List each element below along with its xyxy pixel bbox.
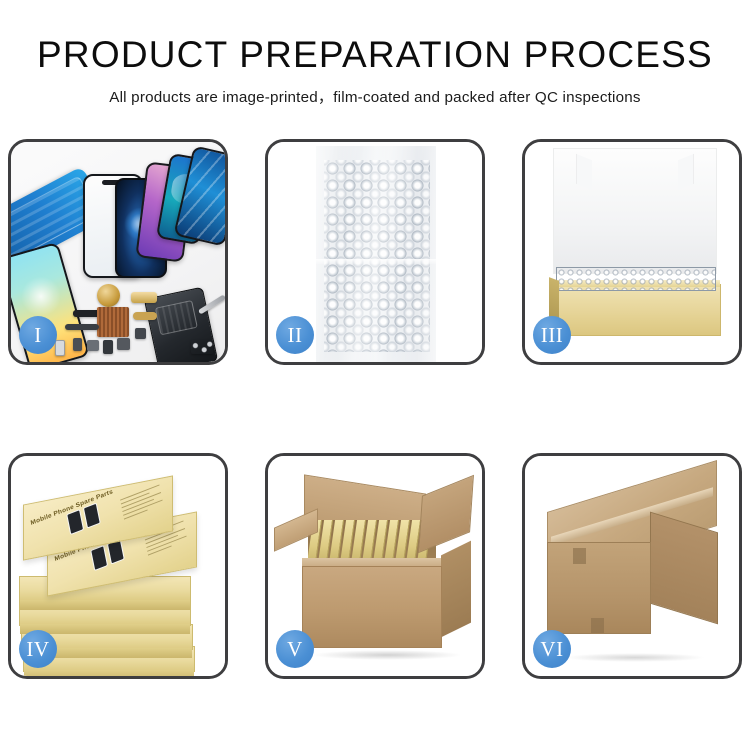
step-badge-5: V [276,630,314,668]
step-badge-2: II [276,316,314,354]
kraft-flat-box [549,284,721,336]
small-component-6 [135,328,146,339]
screws-group [191,340,213,354]
sealed-carton-shadow [565,653,705,662]
small-component-1 [73,338,82,351]
bubble-wrapped-item [316,146,436,362]
vibration-coil-part [97,284,120,307]
small-component-5 [133,312,157,320]
product-preparation-infographic: PRODUCT PREPARATION PROCESS All products… [0,0,750,750]
sim-tray-part [55,340,65,356]
process-step-6: VI [522,453,742,679]
lid-flap-left [576,154,592,190]
ribbon-cable-part [65,324,99,330]
small-component-2 [87,340,99,351]
process-step-3: III [522,139,742,365]
small-component-3 [103,340,113,354]
step-badge-3: III [533,316,571,354]
process-step-2: II [265,139,485,365]
lid-flap-right [678,154,694,190]
process-step-1: I [8,139,228,365]
sealed-carton-side [650,512,718,625]
page-subtitle: All products are image-printed，film-coat… [0,85,750,107]
box-spec-lines-top [120,484,164,522]
process-step-5: V [265,453,485,679]
process-step-4: Mobile Phone Spare Parts Mobile Phone Sp… [8,453,228,679]
step-badge-1: I [19,316,57,354]
process-step-grid: I II [8,139,742,679]
circuit-board-part [97,307,129,337]
page-title: PRODUCT PREPARATION PROCESS [0,34,750,76]
carton-front-panel [302,566,442,648]
carton-handle-notch-2 [591,618,604,633]
wrapped-contents [556,267,716,291]
carton-side-panel [441,541,471,638]
gold-connector-part [131,292,157,303]
carton-shadow [312,650,462,660]
step-badge-4: IV [19,630,57,668]
header: PRODUCT PREPARATION PROCESS All products… [0,0,750,107]
carton-handle-notch-1 [573,548,586,564]
step-badge-6: VI [533,630,571,668]
wrap-sheen [316,146,436,362]
carton-flap-right [418,475,474,554]
small-component-4 [117,338,130,350]
white-box-lid [553,148,717,274]
